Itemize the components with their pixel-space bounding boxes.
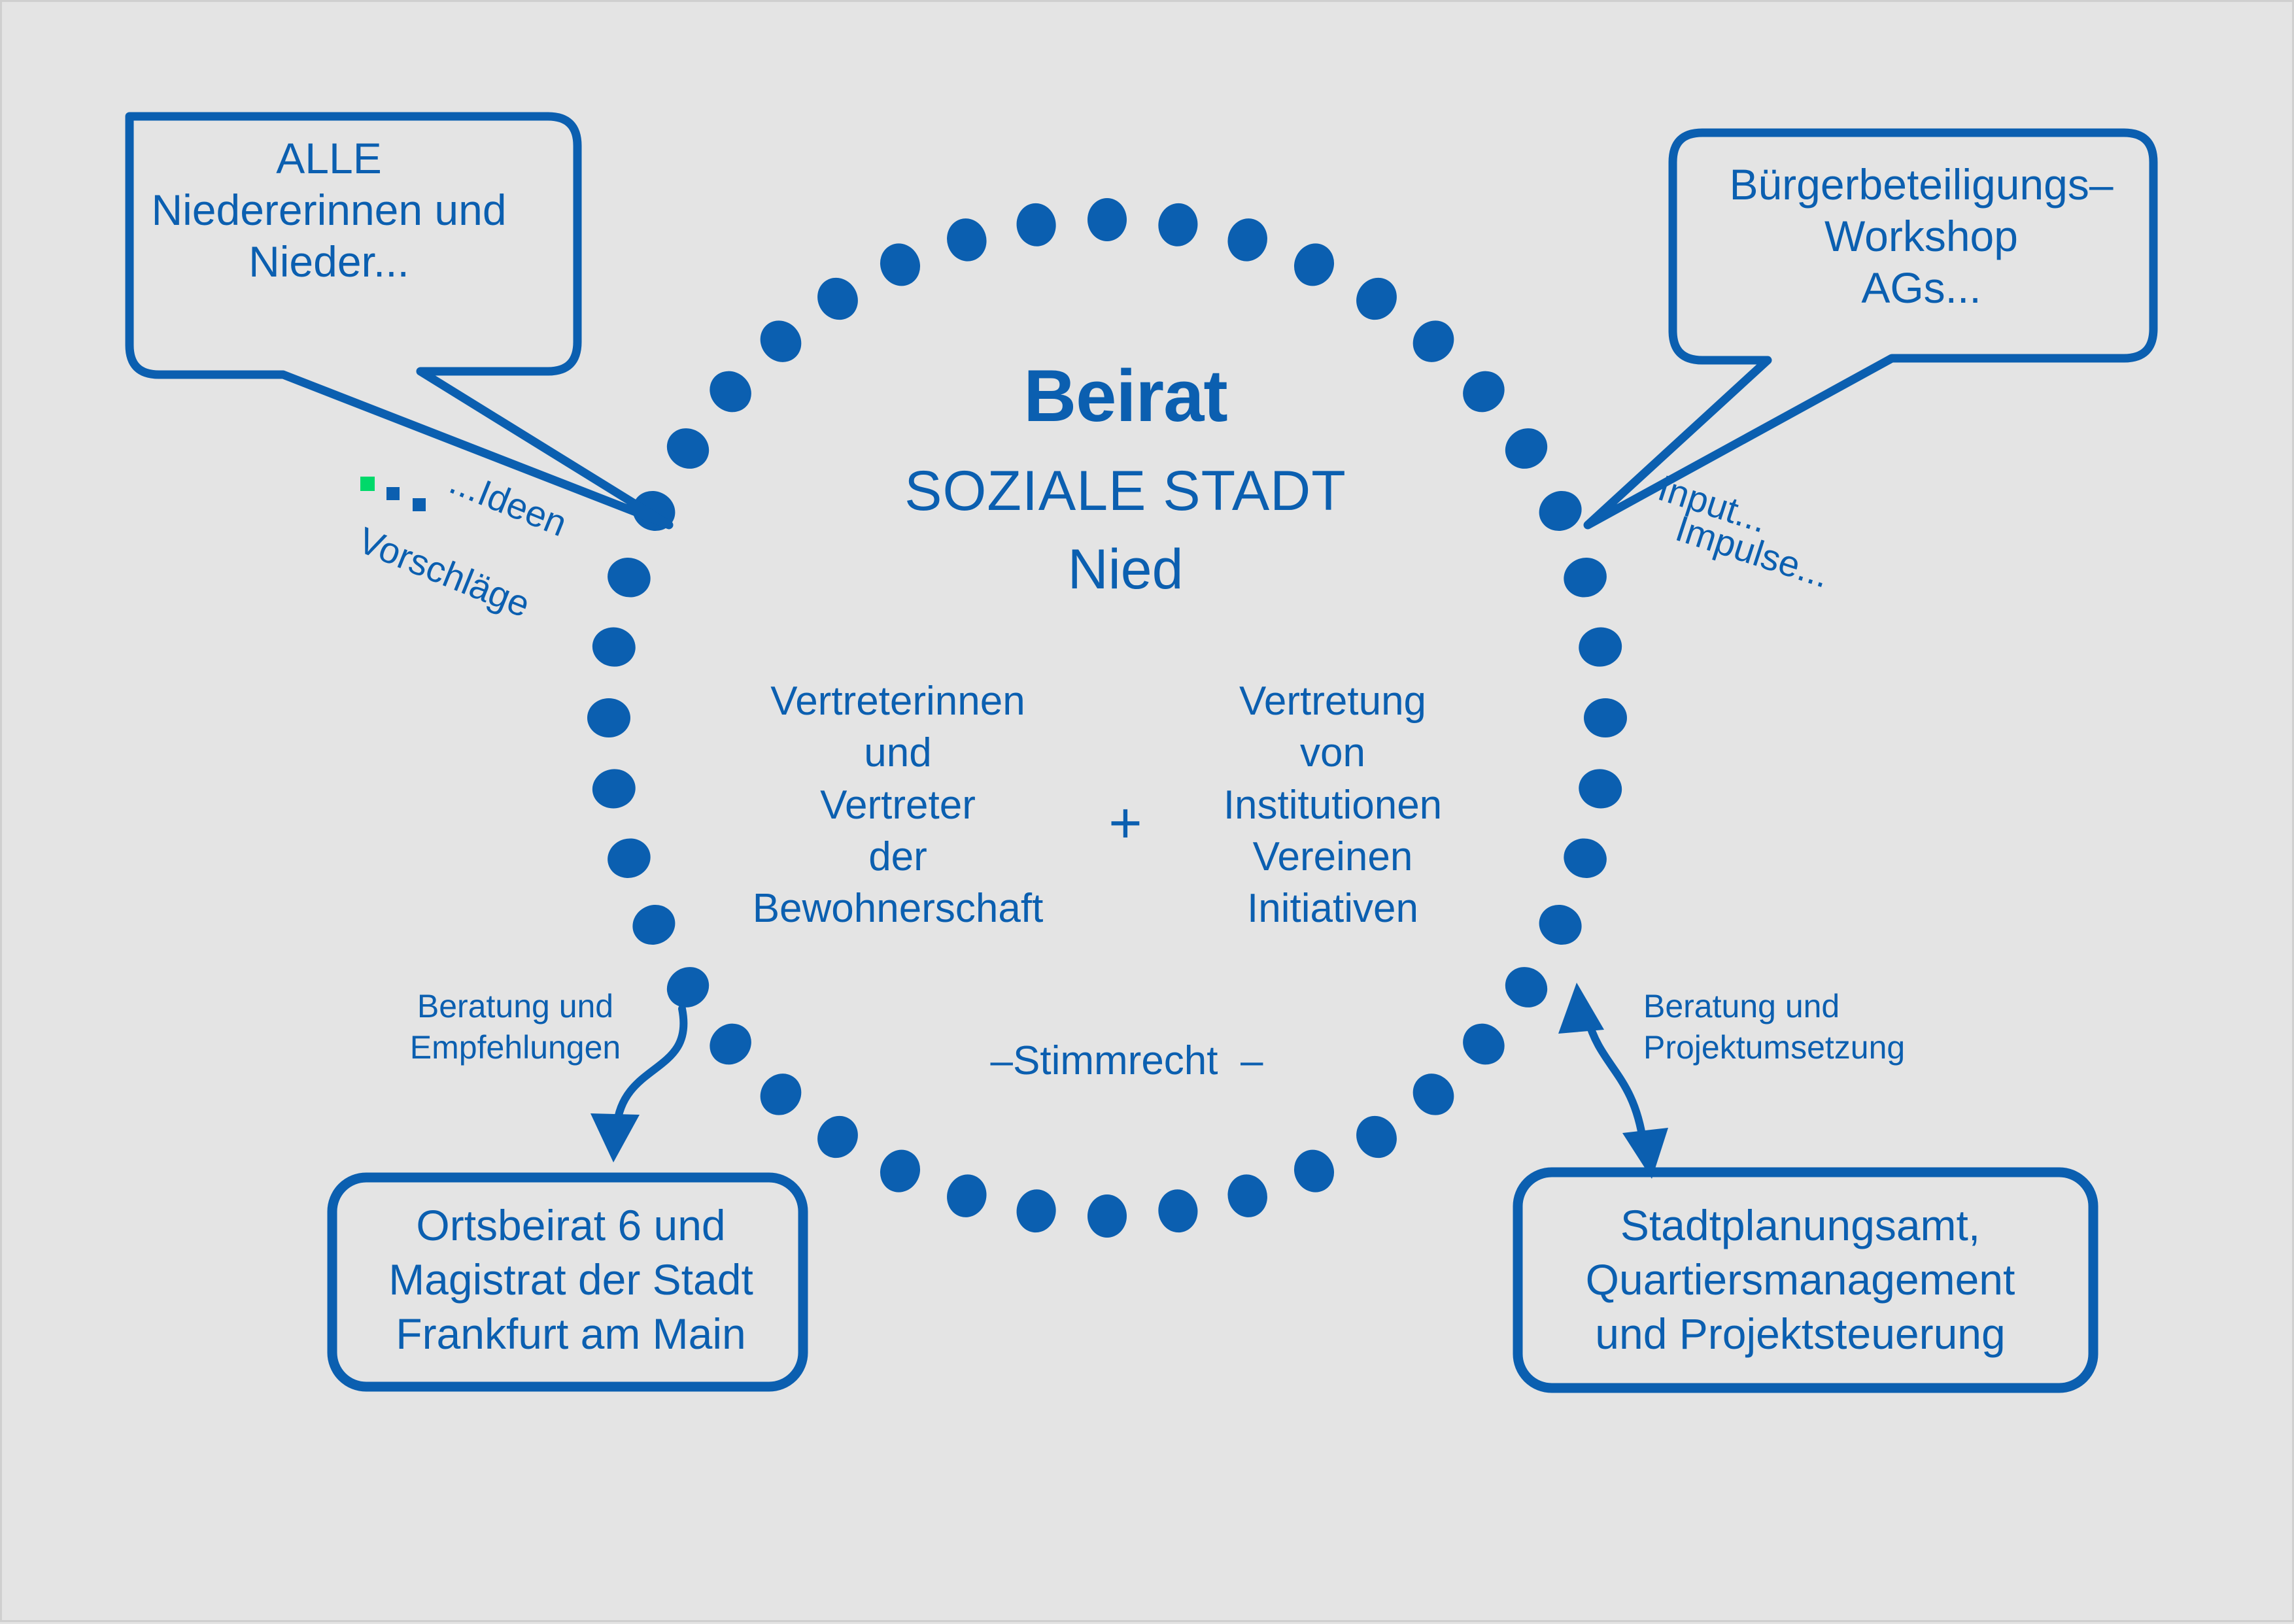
column-left-line-2: und: [753, 727, 1044, 779]
circle-footer-stimmrecht: –Stimmrecht –: [991, 1038, 1263, 1083]
circle-dot: [603, 834, 655, 883]
circle-dot: [942, 214, 991, 266]
circle-dot: [1156, 201, 1201, 249]
circle-dot: [659, 420, 717, 477]
circle-dot: [1533, 484, 1588, 538]
annotation-beratung-empfehlungen: Beratung und Empfehlungen: [385, 986, 646, 1068]
column-left-line-3: Vertreter: [753, 779, 1044, 831]
circle-dot: [1576, 766, 1624, 811]
column-right-line-5: Initiativen: [1224, 883, 1442, 934]
circle-dot: [590, 624, 638, 669]
box-text-bottom-right: Stadtplanungsamt, Quartiersmanagement un…: [1526, 1198, 2075, 1361]
circle-dot: [702, 1015, 760, 1074]
blue-dot-accent-2: [413, 498, 426, 511]
bubble-line-3: AGs...: [1699, 262, 2144, 314]
circle-dot: [1405, 1065, 1463, 1123]
column-left-line-4: der: [753, 831, 1044, 883]
green-dot-accent: [360, 477, 375, 491]
circle-dot: [1156, 1187, 1201, 1235]
circle-subtitle-2: Nied: [1068, 538, 1184, 601]
annotation-line-1: Beratung und: [385, 986, 646, 1027]
circle-dot: [1454, 363, 1513, 421]
box-line-2: Magistrat der Stadt: [342, 1253, 800, 1307]
circle-dot: [1533, 898, 1588, 952]
circle-dot: [1498, 420, 1555, 477]
circle-dot: [1454, 1015, 1513, 1074]
circle-subtitle-1: SOZIALE STADT: [904, 460, 1346, 522]
circle-dot: [752, 1065, 810, 1123]
circle-dot: [1498, 959, 1555, 1015]
circle-column-right: Vertretung von Institutionen Vereinen In…: [1224, 675, 1442, 935]
box-text-bottom-left: Ortsbeirat 6 und Magistrat der Stadt Fra…: [342, 1198, 800, 1361]
circle-dot: [1087, 1194, 1127, 1238]
column-left-line-1: Vertreterinnen: [753, 675, 1044, 727]
circle-dot: [1087, 198, 1127, 241]
annotation-line-2: Empfehlungen: [385, 1027, 646, 1068]
plus-operator: +: [1108, 790, 1142, 856]
circle-dot: [1348, 1108, 1405, 1166]
box-line-3: und Projektsteuerung: [1526, 1307, 2075, 1361]
box-line-1: Ortsbeirat 6 und: [342, 1198, 800, 1253]
circle-dot: [1559, 834, 1611, 883]
column-right-line-4: Vereinen: [1224, 831, 1442, 883]
circle-title: Beirat: [1023, 355, 1227, 437]
circle-dot: [1288, 237, 1341, 292]
circle-dot: [1014, 201, 1059, 249]
annotation-beratung-projektumsetzung: Beratung und Projektumsetzung: [1643, 986, 1951, 1068]
circle-dot: [1223, 1170, 1273, 1222]
circle-dot: [702, 363, 760, 421]
circle-dot: [752, 313, 810, 371]
bubble-line-3: Nieder...: [100, 236, 558, 288]
annotation-line-1: Beratung und: [1643, 986, 1951, 1027]
box-line-2: Quartiersmanagement: [1526, 1253, 2075, 1307]
column-right-line-1: Vertretung: [1224, 675, 1442, 727]
circle-dot: [1576, 624, 1624, 669]
diagram-canvas: ALLE Niedererinnen und Nieder... Bürgerb…: [0, 0, 2294, 1622]
circle-dot: [942, 1170, 991, 1222]
column-left-line-5: Bewohnerschaft: [753, 883, 1044, 934]
circle-dot: [590, 766, 638, 811]
circle-dot: [1559, 552, 1611, 602]
column-right-line-3: Institutionen: [1224, 779, 1442, 831]
bubble-line-1: Bürgerbeteiligungs–: [1699, 159, 2144, 211]
bubble-line-2: Workshop: [1699, 211, 2144, 262]
bubble-text-top-right: Bürgerbeteiligungs– Workshop AGs...: [1699, 159, 2144, 314]
bubble-text-top-left: ALLE Niedererinnen und Nieder...: [100, 133, 558, 288]
bubble-line-1: ALLE: [100, 133, 558, 184]
circle-dot: [587, 698, 630, 737]
circle-dot: [874, 1143, 927, 1199]
circle-dot: [810, 270, 866, 328]
blue-dot-accent-1: [386, 487, 400, 500]
box-line-1: Stadtplanungsamt,: [1526, 1198, 2075, 1253]
box-line-3: Frankfurt am Main: [342, 1307, 800, 1361]
circle-dot: [874, 237, 927, 292]
circle-dot: [1405, 313, 1463, 371]
circle-dot: [1584, 698, 1627, 737]
circle-dot: [1223, 214, 1273, 266]
bubble-line-2: Niedererinnen und: [100, 184, 558, 236]
column-right-line-2: von: [1224, 727, 1442, 779]
circle-dot: [1348, 270, 1405, 328]
circle-dot: [659, 959, 717, 1015]
circle-dot: [603, 552, 655, 602]
annotation-line-2: Projektumsetzung: [1643, 1027, 1951, 1068]
circle-column-left: Vertreterinnen und Vertreter der Bewohne…: [753, 675, 1044, 935]
circle-dot: [1288, 1143, 1341, 1199]
circle-dot: [626, 898, 681, 952]
circle-dot: [1014, 1187, 1059, 1235]
circle-dot: [810, 1108, 866, 1166]
